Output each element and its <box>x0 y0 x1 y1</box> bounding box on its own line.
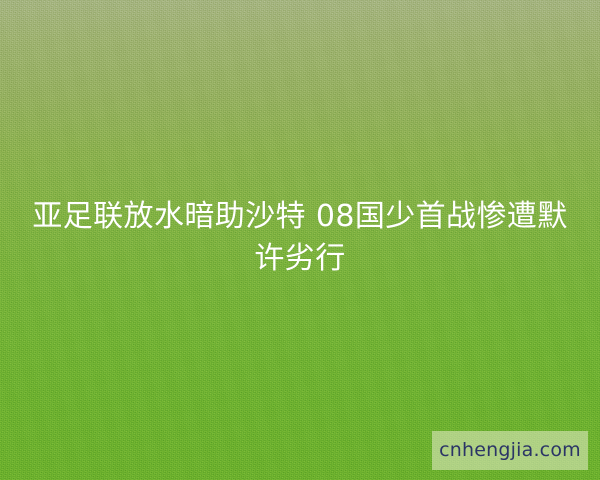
watermark-badge: cnhengjia.com <box>432 431 588 470</box>
image-canvas: 亚足联放水暗助沙特 08国少首战惨遭默许劣行 cnhengjia.com <box>0 0 600 480</box>
background-gradient <box>0 0 600 480</box>
watermark-label: cnhengjia.com <box>439 441 581 460</box>
